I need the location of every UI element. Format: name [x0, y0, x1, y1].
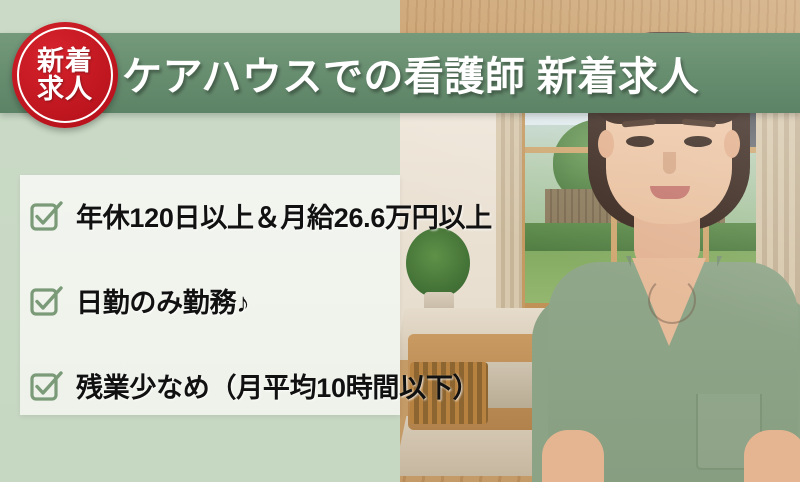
checkbox-checked-icon [30, 371, 60, 401]
arm-right [744, 430, 800, 482]
ear-left [598, 130, 614, 158]
list-item: 日勤のみ勤務♪ [30, 281, 550, 320]
checkbox-checked-icon [30, 201, 60, 231]
list-item: 残業少なめ（月平均10時間以下） [30, 366, 550, 405]
highlights-list: 年休120日以上＆月給26.6万円以上 日勤のみ勤務♪ 残業少なめ（月平均10時… [30, 196, 550, 405]
eye-right [684, 136, 712, 147]
checkbox-checked-icon [30, 286, 60, 316]
badge-line-1: 新着 [37, 47, 93, 75]
new-job-badge: 新着 求人 [12, 22, 118, 128]
list-item-label: 年休120日以上＆月給26.6万円以上 [76, 196, 492, 235]
badge-line-2: 求人 [37, 75, 93, 103]
list-item-label: 残業少なめ（月平均10時間以下） [76, 366, 479, 405]
badge-text: 新着 求人 [37, 47, 93, 103]
page-title: ケアハウスでの看護師 新着求人 [122, 33, 792, 113]
list-item-label: 日勤のみ勤務♪ [76, 281, 249, 320]
eye-left [626, 136, 654, 147]
list-item: 年休120日以上＆月給26.6万円以上 [30, 196, 550, 235]
nose [663, 152, 676, 174]
ear-right [724, 130, 740, 158]
necklace [648, 276, 696, 324]
arm-left [542, 430, 604, 482]
job-ad-banner: ケアハウスでの看護師 新着求人 新着 求人 年休120日以上＆月給26.6万円以… [0, 0, 800, 482]
